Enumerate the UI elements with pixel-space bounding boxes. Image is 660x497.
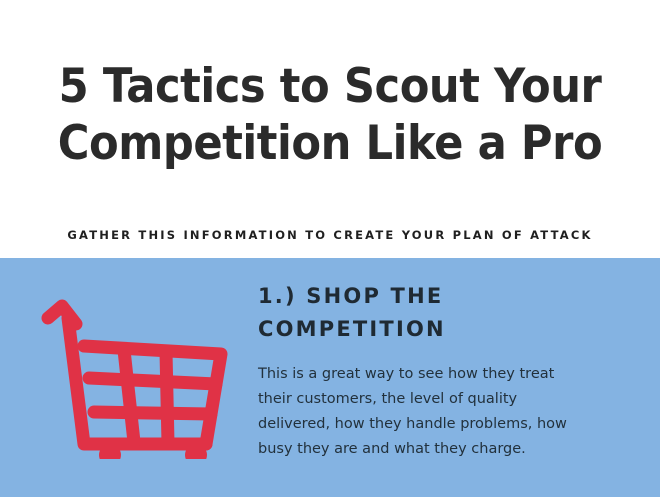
- step-content: 1.) Shop the Competition This is a great…: [258, 280, 588, 462]
- content-panel: 1.) Shop the Competition This is a great…: [0, 258, 660, 497]
- page-title-line-1: 5 Tactics to Scout Your: [26, 58, 633, 115]
- page-title: 5 Tactics to Scout Your Competition Like…: [26, 58, 633, 172]
- infographic-poster: 5 Tactics to Scout Your Competition Like…: [0, 0, 660, 497]
- header-section: 5 Tactics to Scout Your Competition Like…: [0, 0, 660, 258]
- step-heading: 1.) Shop the Competition: [258, 280, 588, 346]
- shopping-cart-icon: [38, 294, 228, 459]
- page-title-line-2: Competition Like a Pro: [26, 115, 633, 172]
- page-subtitle: GATHER THIS INFORMATION TO CREATE YOUR P…: [0, 228, 660, 242]
- step-body-text: This is a great way to see how they trea…: [258, 362, 576, 462]
